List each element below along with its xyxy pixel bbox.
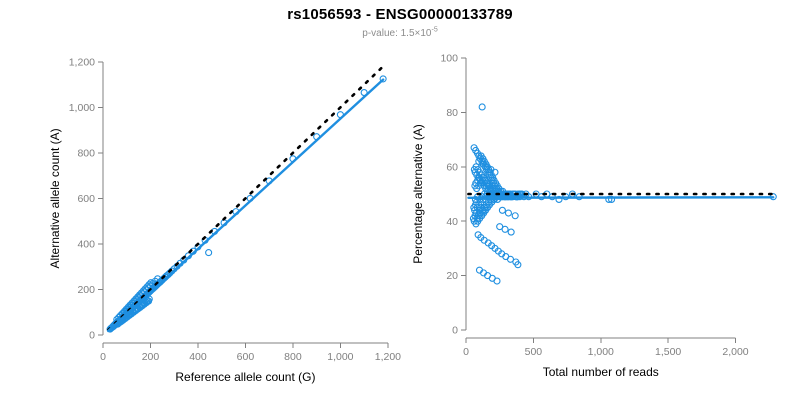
figure-title: rs1056593 - ENSG00000133789 [0,6,800,23]
x-tick-label: 1,000 [588,346,614,358]
x-tick-label: 800 [284,351,302,363]
y-tick-label: 1,000 [69,102,95,114]
x-tick-label: 1,000 [327,351,353,363]
y-tick-label: 1,200 [69,56,95,68]
y-tick-label: 20 [446,270,458,282]
data-point [494,278,500,284]
y-tick-label: 800 [77,147,95,159]
y-tick-label: 0 [89,330,95,342]
y-tick-label: 400 [77,239,95,251]
fit-line [468,197,773,198]
x-tick-label: 0 [463,346,469,358]
y-tick-label: 40 [446,216,458,228]
pvalue-exponent: -5 [431,27,437,34]
data-point [206,250,212,256]
y-tick-label: 600 [77,193,95,205]
y-tick-label: 80 [446,107,458,119]
pvalue-text: p-value: 1.5×10 [362,28,431,39]
data-point [505,210,511,216]
x-tick-label: 1,500 [655,346,681,358]
data-point [512,213,518,219]
x-tick-label: 400 [189,351,207,363]
data-point [479,104,485,110]
x-tick-label: 0 [100,351,106,363]
x-tick-label: 500 [525,346,543,358]
panel-allele-counts: 02004006008001,0001,20002004006008001,00… [48,56,401,384]
fit-line [108,80,383,331]
plot-canvas: 02004006008001,0001,20002004006008001,00… [0,0,800,400]
reference-line [108,66,383,330]
panel-percentage-alternative: 02040608010005001,0001,5002,000Total num… [411,53,776,379]
data-point [502,226,508,232]
y-axis-title: Percentage alternative (A) [411,124,425,263]
y-tick-label: 60 [446,161,458,173]
data-point [508,229,514,235]
y-axis-title: Alternative allele count (A) [48,128,62,268]
x-tick-label: 200 [142,351,160,363]
figure-root: rs1056593 - ENSG00000133789 p-value: 1.5… [0,0,800,400]
x-tick-label: 2,000 [722,346,748,358]
y-tick-label: 100 [440,53,458,65]
x-tick-label: 600 [237,351,255,363]
data-point [499,207,505,213]
x-axis-title: Reference allele count (G) [175,370,315,384]
figure-subtitle: p-value: 1.5×10-5 [0,28,800,39]
x-axis-title: Total number of reads [543,365,659,379]
y-tick-label: 200 [77,284,95,296]
y-tick-label: 0 [452,325,458,337]
x-tick-label: 1,200 [375,351,401,363]
